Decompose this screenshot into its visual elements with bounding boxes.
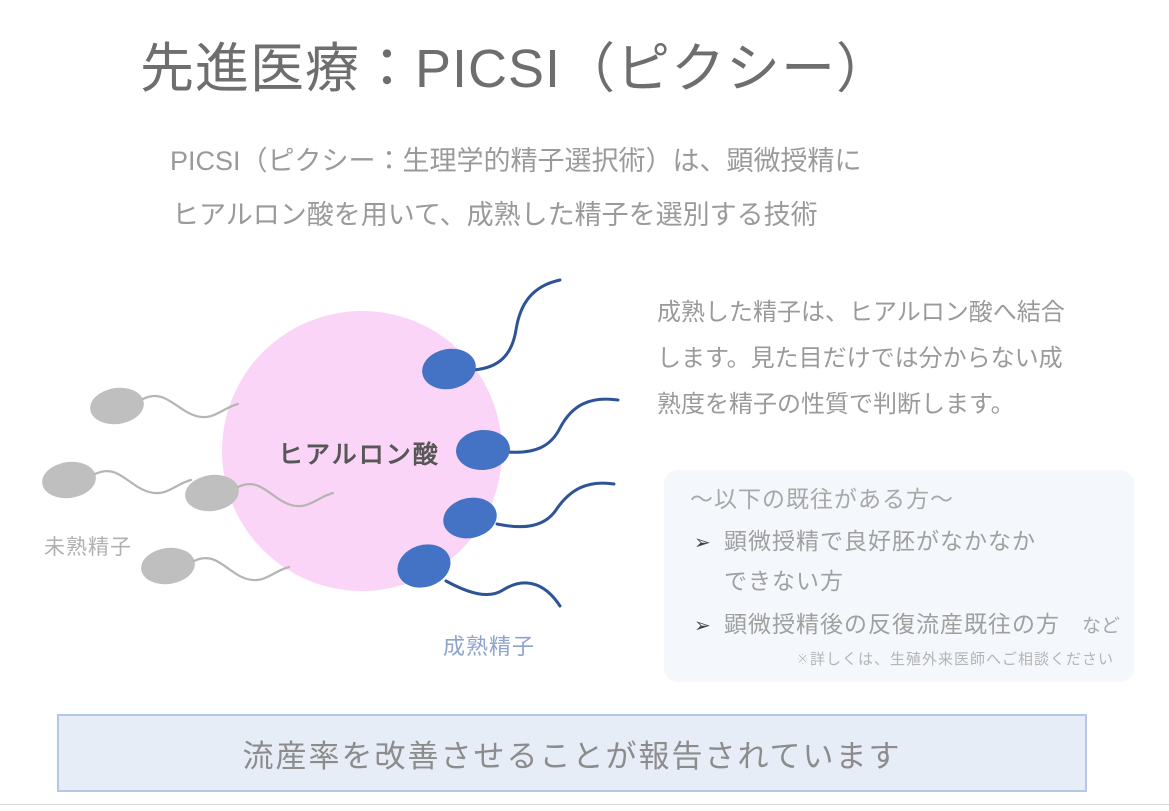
page-title: 先進医療：PICSI（ピクシー） bbox=[140, 33, 1020, 105]
immature-sperm-head bbox=[139, 544, 197, 587]
list-item-label: できない方 bbox=[724, 562, 844, 596]
description-line-2: します。見た目だけでは分からない成 bbox=[657, 336, 1137, 382]
description-line-3: 熟度を精子の性質で判断します。 bbox=[657, 382, 1137, 428]
list-item: ➢ 顕微授精で良好胚がなかなか bbox=[694, 522, 1036, 556]
mature-sperm-tail bbox=[446, 581, 560, 606]
hyaluronic-acid-label: ヒアルロン酸 bbox=[278, 435, 440, 471]
description-line-1: 成熟した精子は、ヒアルロン酸へ結合 bbox=[657, 290, 1137, 336]
info-box-note: ※詳しくは、生殖外来医師へご相談ください bbox=[796, 648, 1114, 669]
immature-sperm-tail bbox=[95, 471, 191, 493]
slide-canvas: 先進医療：PICSI（ピクシー） PICSI（ピクシー：生理学的精子選択術）は、… bbox=[0, 0, 1169, 811]
immature-sperm-tail bbox=[194, 558, 289, 580]
info-box-heading: ～以下の既往がある方～ bbox=[690, 480, 954, 514]
immature-sperm-tail bbox=[143, 396, 238, 417]
mature-sperm-tail bbox=[507, 399, 618, 452]
list-item-continuation: できない方 bbox=[724, 562, 844, 596]
mature-sperm-label: 成熟精子 bbox=[443, 629, 535, 661]
immature-sperm-label: 未熟精子 bbox=[44, 531, 132, 561]
subtitle-line-2: ヒアルロン酸を用いて、成熟した精子を選別する技術 bbox=[170, 188, 980, 242]
arrow-bullet-icon: ➢ bbox=[694, 530, 724, 555]
subtitle: PICSI（ピクシー：生理学的精子選択術）は、顕微授精に ヒアルロン酸を用いて、… bbox=[170, 134, 980, 242]
list-item-label: 顕微授精後の反復流産既往の方 bbox=[724, 605, 1060, 639]
picsi-diagram bbox=[0, 258, 648, 688]
immature-sperm-head bbox=[40, 458, 98, 501]
list-item-label: 顕微授精で良好胚がなかなか bbox=[724, 522, 1036, 556]
list-item-suffix: など bbox=[1060, 611, 1120, 638]
immature-sperm-head bbox=[88, 384, 146, 427]
bottom-divider bbox=[0, 804, 1169, 805]
description-text: 成熟した精子は、ヒアルロン酸へ結合 します。見た目だけでは分からない成 熟度を精… bbox=[657, 290, 1137, 428]
indication-info-box: ～以下の既往がある方～ ➢ 顕微授精で良好胚がなかなか できない方 ➢ 顕微授精… bbox=[664, 470, 1134, 682]
summary-banner-text: 流産率を改善させることが報告されています bbox=[59, 716, 1085, 790]
subtitle-line-1: PICSI（ピクシー：生理学的精子選択術）は、顕微授精に bbox=[170, 134, 980, 188]
mature-sperm-tail bbox=[497, 483, 614, 527]
list-item: ➢ 顕微授精後の反復流産既往の方 など bbox=[694, 605, 1120, 639]
arrow-bullet-icon: ➢ bbox=[694, 613, 724, 638]
mature-sperm-tail bbox=[473, 280, 560, 370]
summary-banner: 流産率を改善させることが報告されています bbox=[57, 714, 1087, 792]
